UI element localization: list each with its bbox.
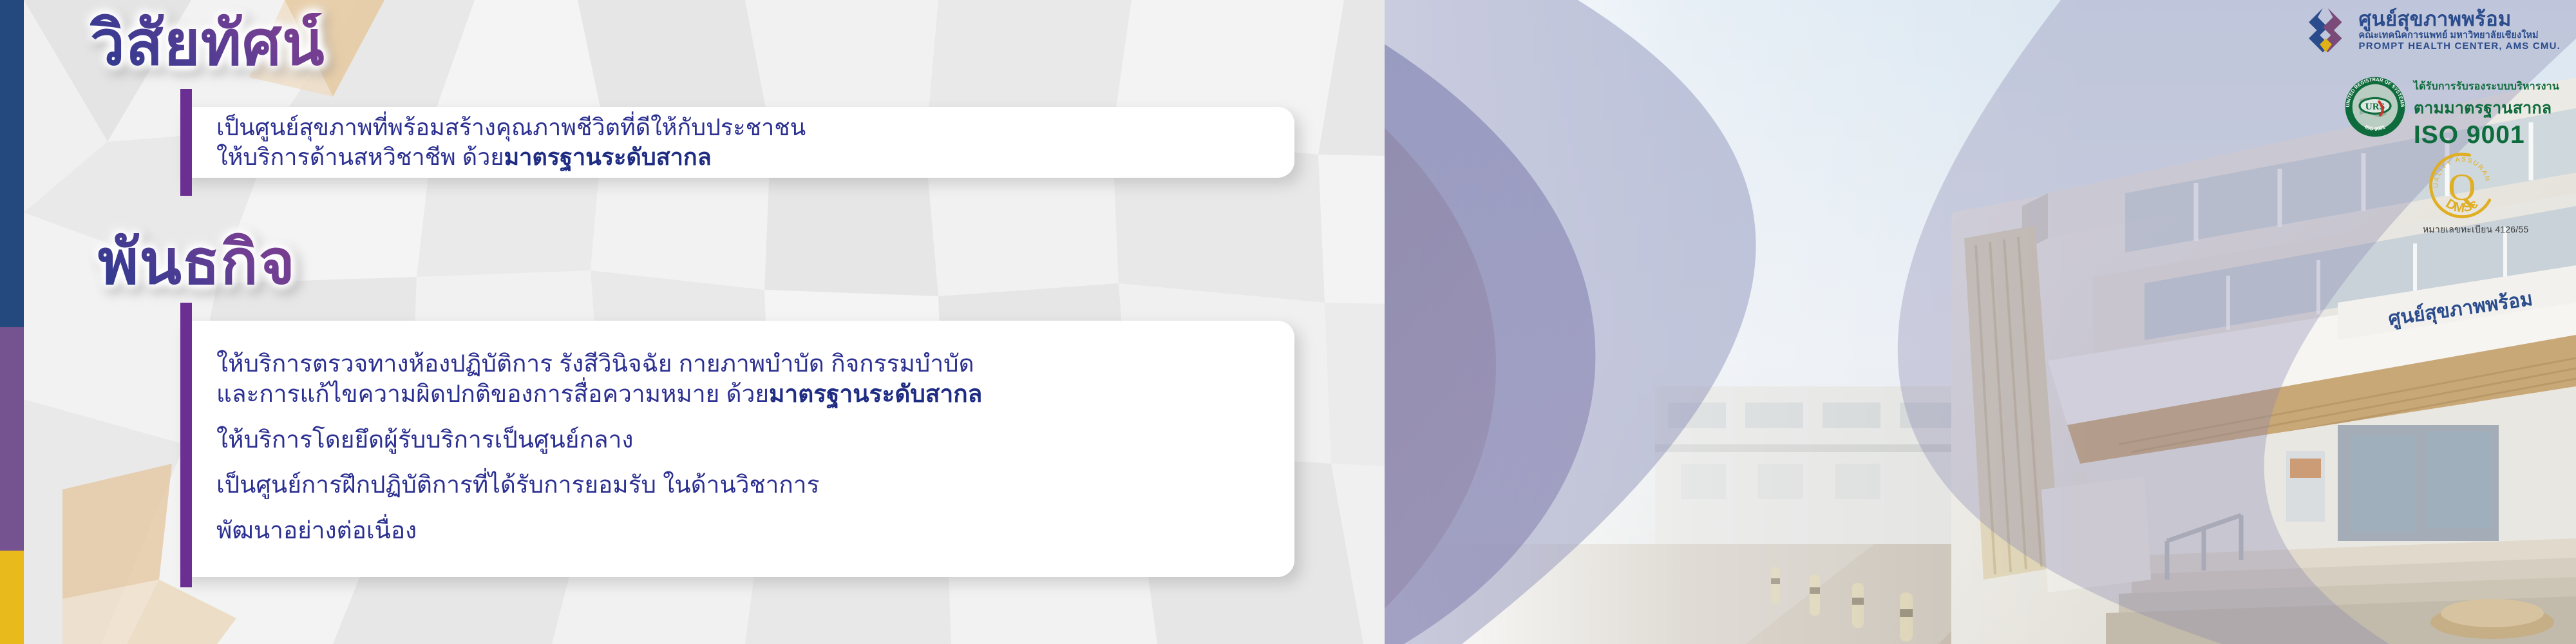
brand-faculty-th: คณะเทคนิคการแพทย์ มหาวิทยาลัยเชียงใหม่: [2359, 31, 2561, 41]
mission-1-line-1: ให้บริการตรวจทางห้องปฏิบัติการ รังสีวินิ…: [216, 349, 1275, 379]
mission-2-line-1-text: ให้บริการโดยยึดผู้รับบริการเป็นศูนย์กลาง: [216, 426, 633, 453]
vision-card-accent-bar: [180, 89, 192, 196]
accent-segment-yellow: [0, 551, 24, 644]
mission-heading: พันธกิจ: [98, 232, 296, 294]
vision-heading: วิสัยทัศน์: [90, 13, 325, 75]
accent-segment-purple: [0, 327, 24, 551]
cert-standard: ISO 9001: [2414, 122, 2559, 147]
vision-line-2: ให้บริการด้านสหวิชาชีพ ด้วยมาตรฐานระดับส…: [216, 142, 1275, 172]
vision-line-1: เป็นศูนย์สุขภาพที่พร้อมสร้างคุณภาพชีวิตท…: [216, 113, 1275, 142]
dmsc-quality-mark: QUALITY ASSURANCE Q DMSc หมายเลขทะเบียน …: [2423, 149, 2501, 237]
mission-3-line-1: เป็นศูนย์การฝึกปฏิบัติการที่ได้รับการยอม…: [216, 470, 1275, 500]
cert-line-2: ตามมาตรฐานสากล: [2414, 95, 2559, 121]
brand-name-en: PROMPT HEALTH CENTER, AMS CMU.: [2359, 41, 2561, 52]
brand-lockup: ศูนย์สุขภาพพร้อม คณะเทคนิคการแพทย์ มหาวิ…: [2300, 5, 2561, 55]
mission-card-body: ให้บริการตรวจทางห้องปฏิบัติการ รังสีวินิ…: [180, 352, 1294, 545]
mission-1-line-2: และการแก้ไขความผิดปกติของการสื่อความหมาย…: [216, 379, 1275, 410]
mission-card: ให้บริการตรวจทางห้องปฏิบัติการ รังสีวินิ…: [180, 321, 1294, 577]
urs-seal-icon: URS UNITED REGISTRAR OF SYSTEMS ISO 9001: [2344, 76, 2406, 138]
vision-mission-banner: ศูนย์สุขภาพพร้อม: [0, 0, 2576, 644]
accent-segment-blue: [0, 0, 24, 327]
mission-1-line-1-text: ให้บริการตรวจทางห้องปฏิบัติการ รังสีวินิ…: [216, 350, 974, 377]
mission-1-line-2-emphasis: มาตรฐานระดับสากล: [769, 381, 982, 407]
vision-card: เป็นศูนย์สุขภาพที่พร้อมสร้างคุณภาพชีวิตท…: [180, 107, 1294, 178]
mission-4-line-1-text: พัฒนาอย่างต่อเนื่อง: [216, 517, 417, 544]
vision-card-body: เป็นศูนย์สุขภาพที่พร้อมสร้างคุณภาพชีวิตท…: [180, 113, 1294, 172]
brand-name-th: ศูนย์สุขภาพพร้อม: [2359, 9, 2561, 30]
mission-1-line-2-text: และการแก้ไขความผิดปกติของการสื่อความหมาย…: [216, 381, 769, 407]
vision-line-2-text: ให้บริการด้านสหวิชาชีพ ด้วย: [216, 144, 504, 170]
prompt-health-center-logo-icon: [2300, 5, 2350, 55]
mission-card-accent-bar: [180, 303, 192, 587]
left-accent-bar: [0, 0, 24, 644]
mission-item: เป็นศูนย์การฝึกปฏิบัติการที่ได้รับการยอม…: [216, 470, 1275, 500]
mission-2-line-1: ให้บริการโดยยึดผู้รับบริการเป็นศูนย์กลาง: [216, 425, 1275, 455]
dmsc-registration-number: หมายเลขทะเบียน 4126/55: [2423, 223, 2501, 237]
vision-line-2-emphasis: มาตรฐานระดับสากล: [504, 144, 711, 170]
iso-certification: URS UNITED REGISTRAR OF SYSTEMS ISO 9001…: [2344, 76, 2559, 147]
vision-line-1-text: เป็นศูนย์สุขภาพที่พร้อมสร้างคุณภาพชีวิตท…: [216, 114, 806, 140]
mission-item: ให้บริการโดยยึดผู้รับบริการเป็นศูนย์กลาง: [216, 425, 1275, 455]
cert-line-1: ได้รับการรับรองระบบบริหารงาน: [2414, 79, 2559, 95]
mission-item: พัฒนาอย่างต่อเนื่อง: [216, 516, 1275, 546]
mission-item: ให้บริการตรวจทางห้องปฏิบัติการ รังสีวินิ…: [216, 349, 1275, 409]
mission-3-line-1-text: เป็นศูนย์การฝึกปฏิบัติการที่ได้รับการยอม…: [216, 471, 819, 498]
q-dmsc-icon: QUALITY ASSURANCE Q DMSc: [2426, 149, 2498, 222]
mission-4-line-1: พัฒนาอย่างต่อเนื่อง: [216, 516, 1275, 546]
banner-content: วิสัยทัศน์ เป็นศูนย์สุขภาพที่พร้อมสร้างค…: [0, 0, 1417, 644]
